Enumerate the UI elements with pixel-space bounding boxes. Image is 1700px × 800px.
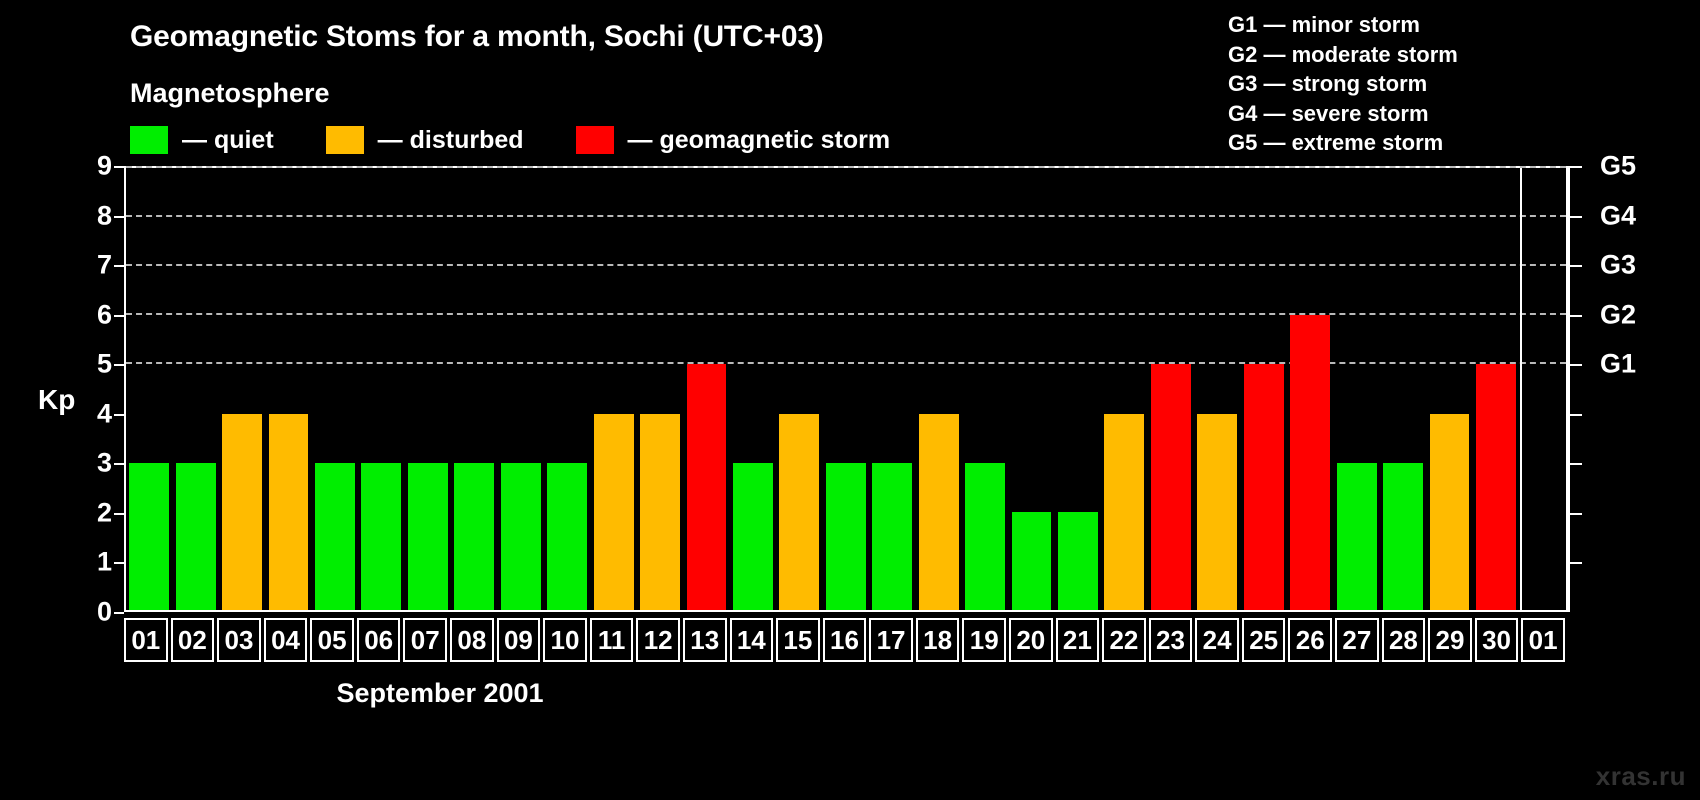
bar-slot-day-23[interactable] [1148, 168, 1194, 610]
day-label-0[interactable]: 01 [124, 618, 168, 662]
bar-day-17[interactable] [872, 463, 912, 610]
bar-day-21[interactable] [1058, 512, 1098, 610]
bar-day-05[interactable] [315, 463, 355, 610]
g-key-line-g4: G4 — severe storm [1228, 99, 1458, 129]
g-axis-minor-tick-4 [1570, 414, 1582, 416]
bar-day-10[interactable] [547, 463, 587, 610]
y-tick-mark-9 [114, 166, 124, 168]
bar-slot-day-02[interactable] [172, 168, 218, 610]
legend-label-quiet: — quiet [182, 126, 274, 155]
bar-slot-day-06[interactable] [358, 168, 404, 610]
day-label-24[interactable]: 25 [1242, 618, 1286, 662]
day-label-20[interactable]: 21 [1056, 618, 1100, 662]
day-label-26[interactable]: 27 [1335, 618, 1379, 662]
g-tick-label-g2: G2 [1600, 299, 1636, 330]
bar-day-26[interactable] [1290, 315, 1330, 610]
day-label-25[interactable]: 26 [1288, 618, 1332, 662]
bar-slot-day-18[interactable] [915, 168, 961, 610]
bar-slot-day-20[interactable] [1008, 168, 1054, 610]
x-axis-day-labels: 0102030405060708091011121314151617181920… [124, 618, 1568, 662]
y-tick-mark-8 [114, 216, 124, 218]
bar-day-09[interactable] [501, 463, 541, 610]
bar-slot-day-17[interactable] [869, 168, 915, 610]
right-axis-line [1568, 166, 1570, 612]
bar-slot-day-03[interactable] [219, 168, 265, 610]
y-tick-label-6: 6 [72, 299, 112, 330]
bar-slot-day-30[interactable] [1473, 168, 1519, 610]
bar-slot-day-10[interactable] [544, 168, 590, 610]
plot-inner [126, 168, 1566, 610]
bar-day-07[interactable] [408, 463, 448, 610]
g-tick-label-g3: G3 [1600, 250, 1636, 281]
day-label-22[interactable]: 23 [1149, 618, 1193, 662]
bar-slot-day-21[interactable] [1055, 168, 1101, 610]
legend-label-storm: — geomagnetic storm [628, 126, 891, 155]
bar-slot-day-04[interactable] [265, 168, 311, 610]
g-tick-mark-g4 [1570, 216, 1582, 218]
day-label-14[interactable]: 15 [776, 618, 820, 662]
g-tick-mark-g3 [1570, 265, 1582, 267]
day-label-21[interactable]: 22 [1102, 618, 1146, 662]
g-key-line-g5: G5 — extreme storm [1228, 128, 1458, 158]
g-scale-key: G1 — minor storm G2 — moderate storm G3 … [1228, 10, 1458, 158]
day-label-23[interactable]: 24 [1195, 618, 1239, 662]
day-label-4[interactable]: 05 [310, 618, 354, 662]
y-axis-label: Kp [38, 384, 75, 416]
y-tick-mark-0 [114, 612, 124, 614]
bar-day-12[interactable] [640, 414, 680, 610]
y-tick-label-0: 0 [72, 597, 112, 628]
legend: — quiet — disturbed — geomagnetic storm [130, 124, 942, 156]
bar-day-16[interactable] [826, 463, 866, 610]
bar-series [126, 168, 1566, 610]
bar-slot-day-29[interactable] [1426, 168, 1472, 610]
plot-area [124, 166, 1568, 612]
bar-day-02[interactable] [176, 463, 216, 610]
day-label-9[interactable]: 10 [543, 618, 587, 662]
g-tick-mark-g5 [1570, 166, 1582, 168]
day-label-15[interactable]: 16 [823, 618, 867, 662]
bar-slot-day-15[interactable] [776, 168, 822, 610]
bar-day-04[interactable] [269, 414, 309, 610]
g-tick-label-g5: G5 [1600, 151, 1636, 182]
day-label-2[interactable]: 03 [217, 618, 261, 662]
bar-slot-day-26[interactable] [1287, 168, 1333, 610]
bar-day-24[interactable] [1197, 414, 1237, 610]
g-key-line-g1: G1 — minor storm [1228, 10, 1458, 40]
legend-item-storm: — geomagnetic storm [576, 124, 891, 156]
g-axis-minor-tick-1 [1570, 562, 1582, 564]
bar-slot-day-12[interactable] [637, 168, 683, 610]
bar-day-20[interactable] [1012, 512, 1052, 610]
bar-slot-day-08[interactable] [451, 168, 497, 610]
day-label-19[interactable]: 20 [1009, 618, 1053, 662]
day-label-28[interactable]: 29 [1428, 618, 1472, 662]
day-label-11[interactable]: 12 [636, 618, 680, 662]
month-separator-line [1520, 168, 1522, 610]
bar-day-18[interactable] [919, 414, 959, 610]
g-key-line-g2: G2 — moderate storm [1228, 40, 1458, 70]
bar-slot-day-25[interactable] [1241, 168, 1287, 610]
y-tick-mark-4 [114, 414, 124, 416]
bar-slot-day-16[interactable] [823, 168, 869, 610]
y-tick-mark-3 [114, 463, 124, 465]
legend-item-quiet: — quiet [130, 124, 274, 156]
legend-swatch-quiet [130, 126, 168, 154]
day-label-30[interactable]: 01 [1521, 618, 1565, 662]
bar-slot-day-09[interactable] [498, 168, 544, 610]
bar-day-28[interactable] [1383, 463, 1423, 610]
y-tick-label-3: 3 [72, 448, 112, 479]
day-label-1[interactable]: 02 [171, 618, 215, 662]
bar-day-01[interactable] [129, 463, 169, 610]
bar-day-27[interactable] [1337, 463, 1377, 610]
bar-slot-day-11[interactable] [590, 168, 636, 610]
bar-slot-day-01[interactable] [126, 168, 172, 610]
day-label-8[interactable]: 09 [497, 618, 541, 662]
g-key-line-g3: G3 — strong storm [1228, 69, 1458, 99]
day-label-3[interactable]: 04 [264, 618, 308, 662]
legend-label-disturbed: — disturbed [378, 126, 524, 155]
y-tick-label-8: 8 [72, 200, 112, 231]
bar-day-19[interactable] [965, 463, 1005, 610]
y-tick-label-7: 7 [72, 250, 112, 281]
bar-slot-day-14[interactable] [730, 168, 776, 610]
bar-day-13[interactable] [687, 364, 727, 610]
bar-day-06[interactable] [361, 463, 401, 610]
bar-slot-day-28[interactable] [1380, 168, 1426, 610]
day-label-12[interactable]: 13 [683, 618, 727, 662]
day-label-17[interactable]: 18 [916, 618, 960, 662]
g-axis-minor-tick-2 [1570, 513, 1582, 515]
y-tick-label-2: 2 [72, 497, 112, 528]
y-tick-label-4: 4 [72, 398, 112, 429]
y-tick-mark-6 [114, 315, 124, 317]
day-label-6[interactable]: 07 [403, 618, 447, 662]
x-axis-label: September 2001 [0, 678, 1700, 709]
bar-slot-day-13[interactable] [683, 168, 729, 610]
bar-slot-day-24[interactable] [1194, 168, 1240, 610]
g-axis-minor-tick-3 [1570, 463, 1582, 465]
g-tick-mark-g2 [1570, 315, 1582, 317]
y-tick-label-9: 9 [72, 151, 112, 182]
day-label-29[interactable]: 30 [1475, 618, 1519, 662]
legend-heading: Magnetosphere [130, 78, 330, 109]
bar-day-15[interactable] [779, 414, 819, 610]
y-tick-mark-2 [114, 513, 124, 515]
legend-swatch-storm [576, 126, 614, 154]
day-label-27[interactable]: 28 [1382, 618, 1426, 662]
bar-day-03[interactable] [222, 414, 262, 610]
y-tick-mark-1 [114, 562, 124, 564]
legend-item-disturbed: — disturbed [326, 124, 524, 156]
y-tick-mark-5 [114, 364, 124, 366]
legend-swatch-disturbed [326, 126, 364, 154]
bar-day-23[interactable] [1151, 364, 1191, 610]
bar-day-08[interactable] [454, 463, 494, 610]
y-tick-label-5: 5 [72, 349, 112, 380]
bar-slot-day-22[interactable] [1101, 168, 1147, 610]
bar-day-30[interactable] [1476, 364, 1516, 610]
day-label-10[interactable]: 11 [590, 618, 634, 662]
bar-slot-day-05[interactable] [312, 168, 358, 610]
bar-day-14[interactable] [733, 463, 773, 610]
y-tick-label-1: 1 [72, 547, 112, 578]
g-tick-label-g4: G4 [1600, 200, 1636, 231]
day-label-7[interactable]: 08 [450, 618, 494, 662]
day-label-13[interactable]: 14 [730, 618, 774, 662]
day-label-16[interactable]: 17 [869, 618, 913, 662]
page-title: Geomagnetic Stoms for a month, Sochi (UT… [130, 20, 824, 54]
bar-day-11[interactable] [594, 414, 634, 610]
g-tick-mark-g1 [1570, 364, 1582, 366]
day-label-18[interactable]: 19 [962, 618, 1006, 662]
day-label-5[interactable]: 06 [357, 618, 401, 662]
bar-slot-day-01[interactable] [1519, 168, 1565, 610]
bar-slot-day-27[interactable] [1333, 168, 1379, 610]
bar-day-22[interactable] [1104, 414, 1144, 610]
y-tick-mark-7 [114, 265, 124, 267]
g-tick-label-g1: G1 [1600, 349, 1636, 380]
bar-day-29[interactable] [1430, 414, 1470, 610]
bar-day-25[interactable] [1244, 364, 1284, 610]
bar-slot-day-19[interactable] [962, 168, 1008, 610]
watermark: xras.ru [1596, 761, 1686, 792]
bar-slot-day-07[interactable] [405, 168, 451, 610]
